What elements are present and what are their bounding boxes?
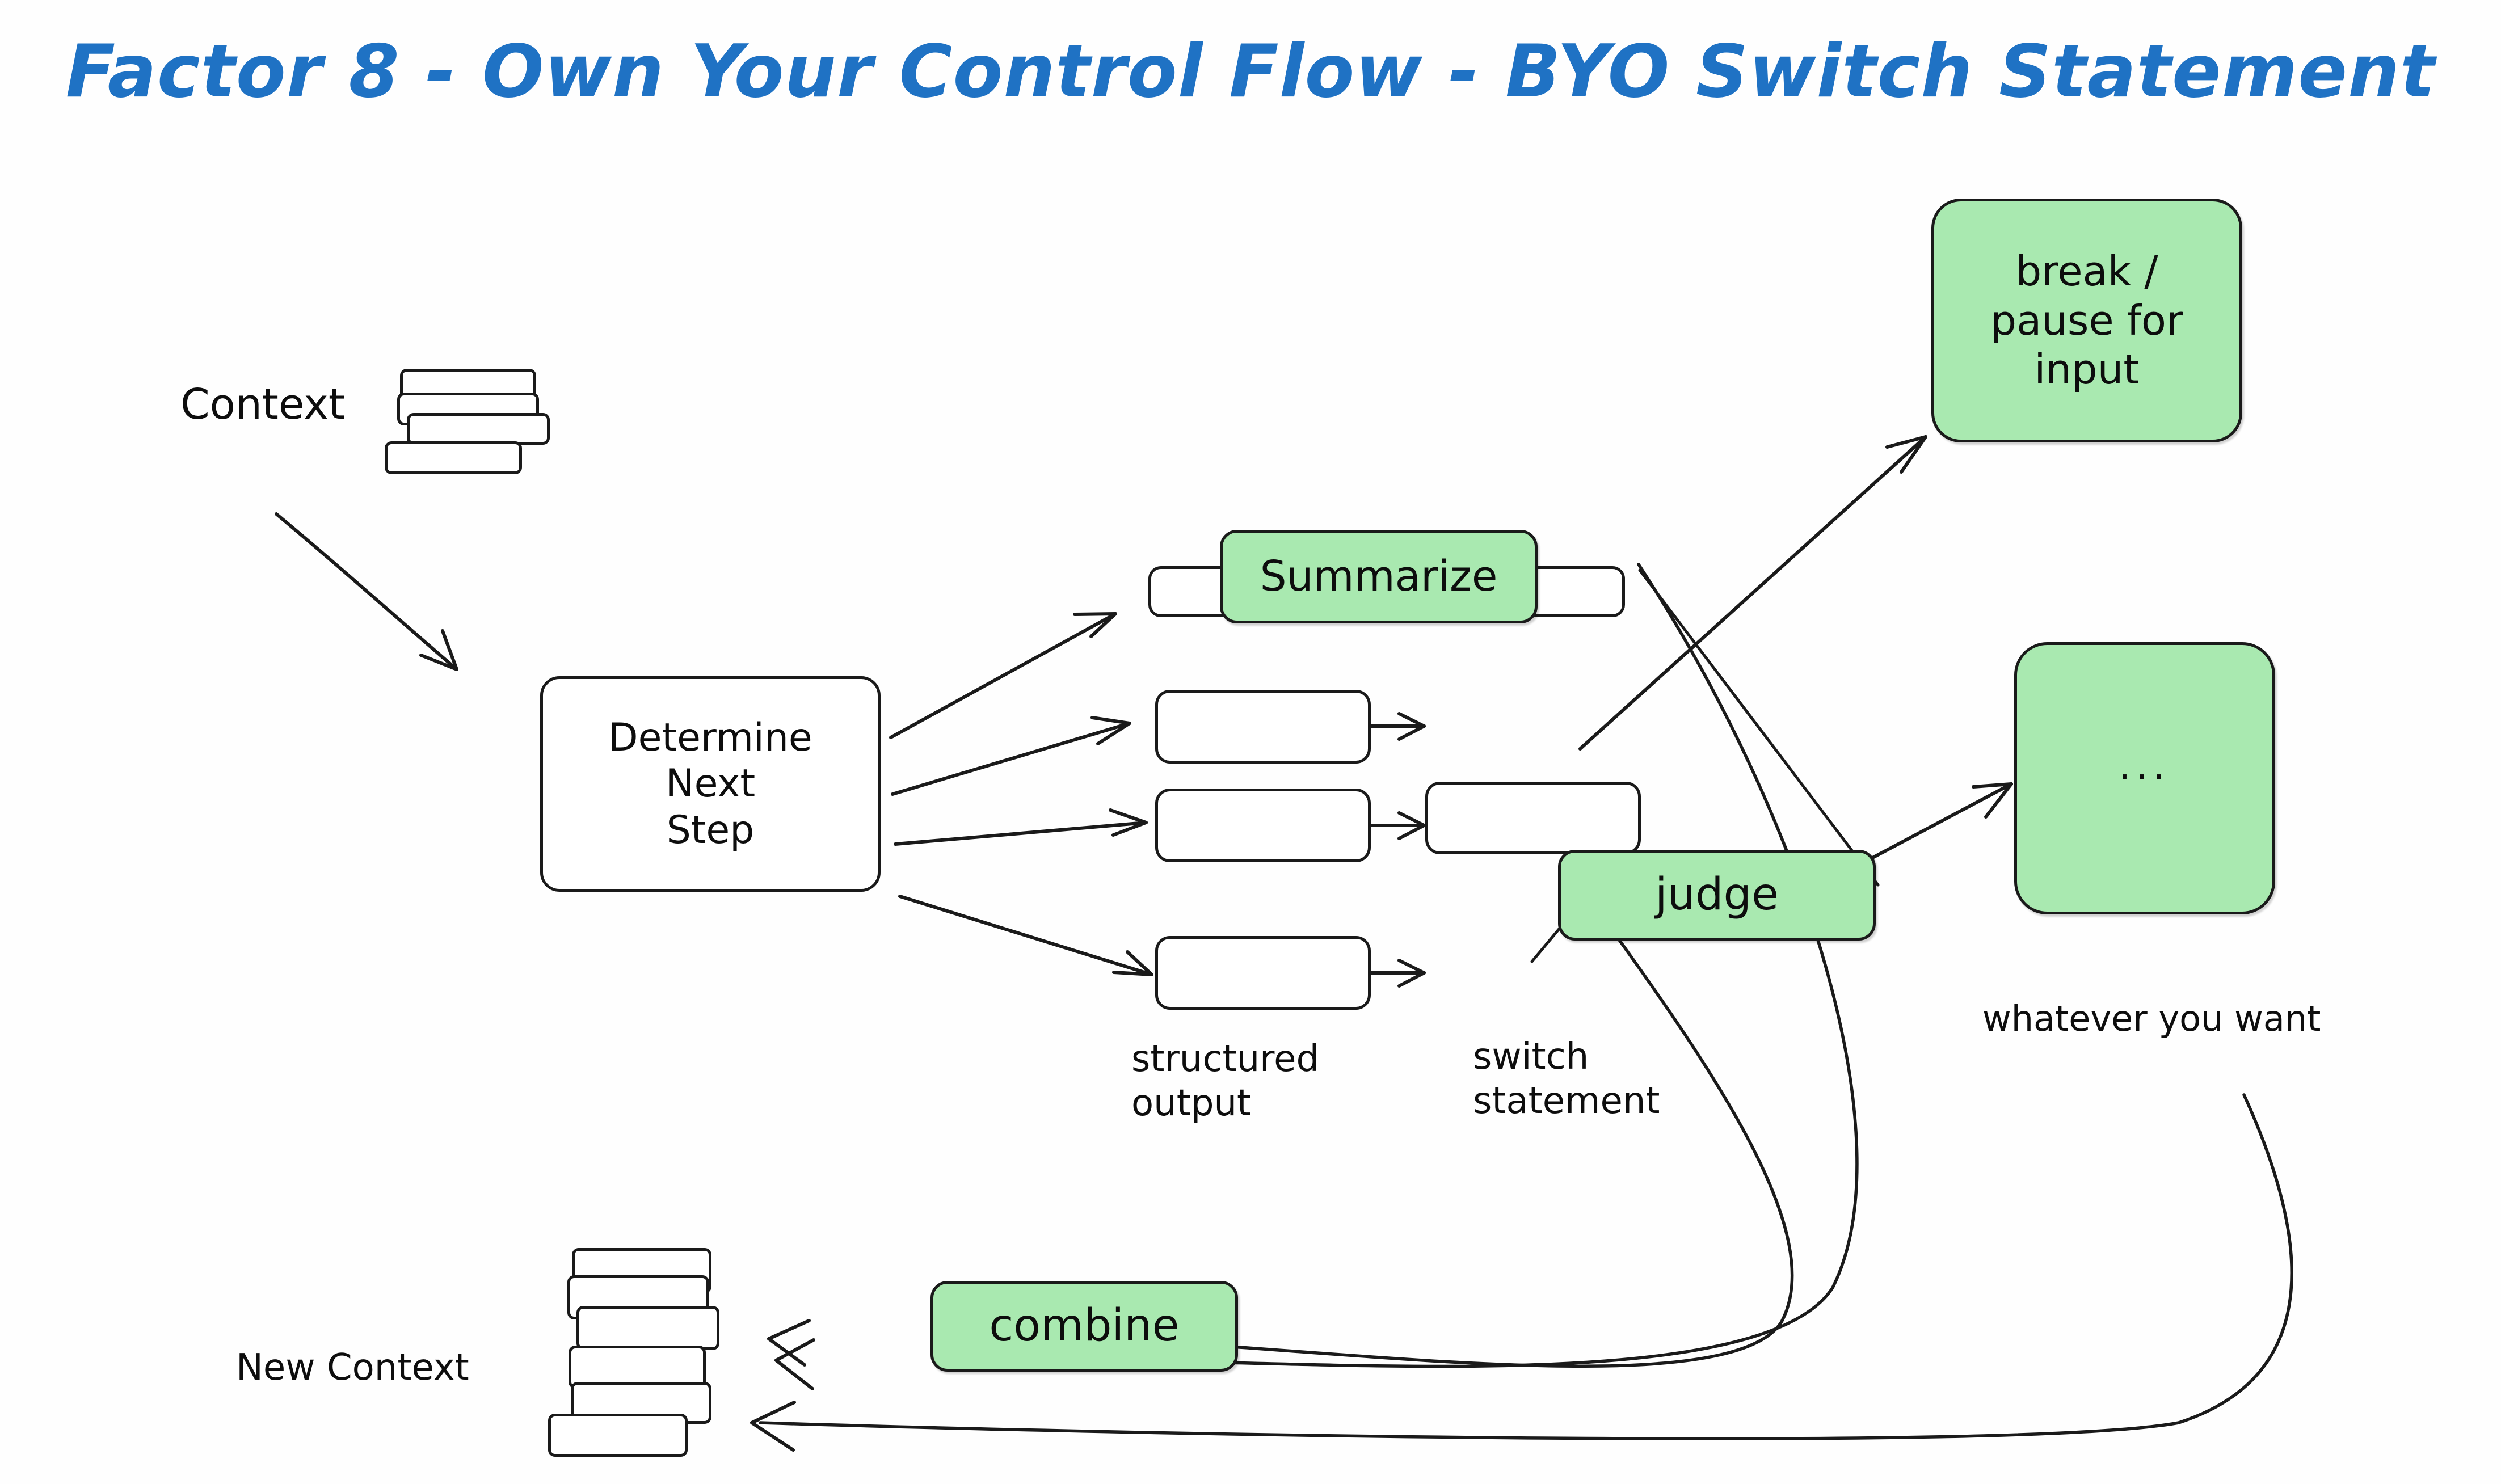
line-summarize-to-judge: [1640, 570, 1878, 885]
node-judge[interactable]: judge: [1558, 850, 1876, 941]
arrow-slot-3-right: [1369, 813, 1424, 838]
arrow-determine-to-slot-3: [895, 810, 1146, 844]
arrow-to-break-pause: [1580, 437, 1926, 749]
arrow-slot-2-right: [1369, 714, 1424, 739]
node-slot-2[interactable]: [1155, 690, 1371, 764]
context-bar: [407, 413, 550, 445]
label-structured-output: structured output: [1131, 1037, 1319, 1125]
node-break-pause-for-input[interactable]: break / pause for input: [1931, 199, 2242, 442]
diagram-canvas: Factor 8 - Own Your Control Flow - BYO S…: [0, 0, 2501, 1484]
context-bar: [385, 441, 522, 474]
node-ellipsis[interactable]: ...: [2014, 642, 2275, 914]
arrow-determine-to-slot-4: [900, 896, 1152, 975]
new-context-bar: [576, 1306, 719, 1350]
label-whatever-you-want: whatever you want: [1982, 997, 2321, 1040]
arrowhead-new-context-bottom: [752, 1402, 794, 1450]
node-summarize[interactable]: Summarize: [1220, 530, 1538, 623]
context-label: Context: [180, 379, 345, 430]
arrow-determine-to-slot-1: [891, 614, 1115, 737]
new-context-label: New Context: [236, 1346, 469, 1390]
arrowhead-combine-upper: [769, 1321, 809, 1365]
new-context-bar: [548, 1414, 688, 1457]
label-switch-statement: switch statement: [1473, 1035, 1660, 1123]
arrow-determine-to-slot-2: [892, 718, 1130, 794]
curve-whatever-to-new-context: [760, 1095, 2292, 1439]
node-slot-4[interactable]: [1155, 936, 1371, 1010]
node-combine[interactable]: combine: [930, 1281, 1238, 1372]
node-slot-3[interactable]: [1155, 789, 1371, 862]
node-determine-next-step[interactable]: Determine Next Step: [540, 676, 881, 892]
arrow-slot-4-right: [1369, 960, 1424, 986]
arrow-context-to-determine: [276, 514, 457, 669]
node-slot-3b[interactable]: [1425, 782, 1641, 854]
